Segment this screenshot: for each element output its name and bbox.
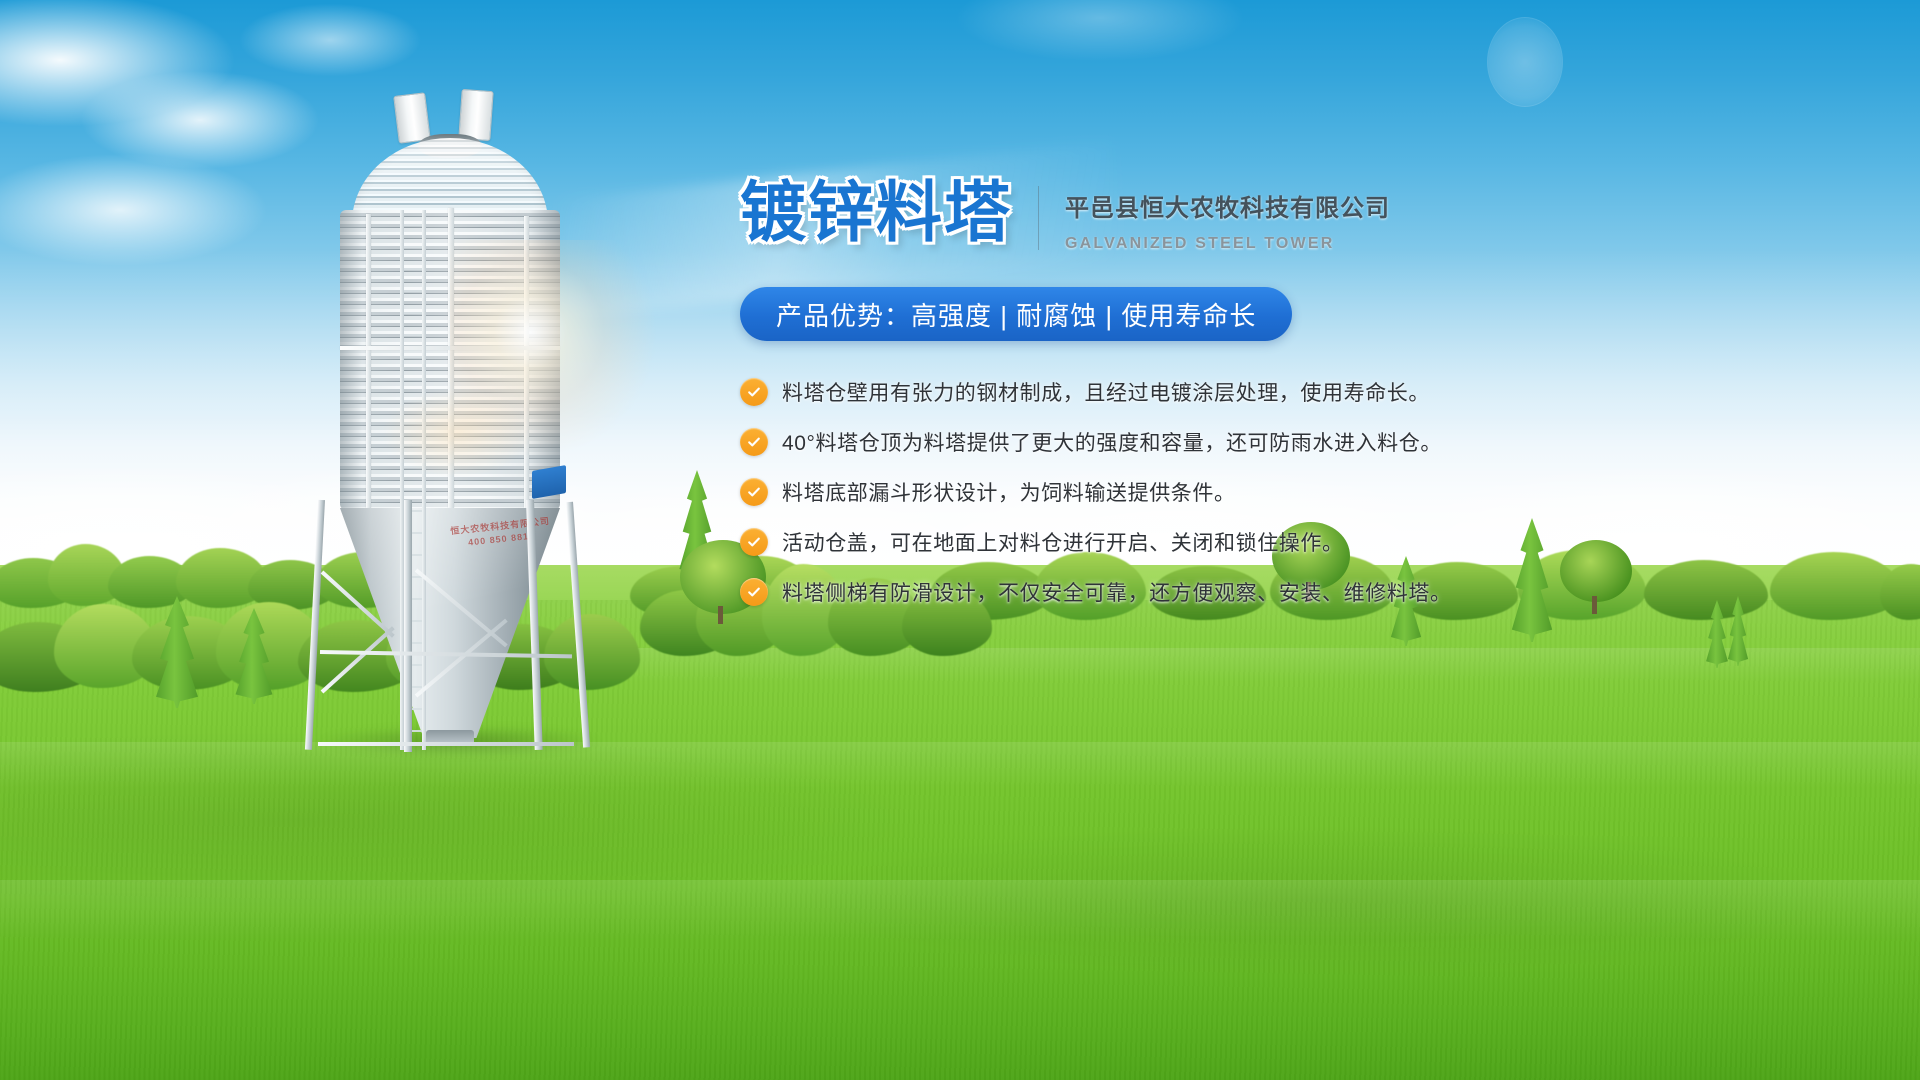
page-title: 镀锌料塔 [740,180,1012,246]
company-block: 平邑县恒大农牧科技有限公司 GALVANIZED STEEL TOWER [1065,180,1390,253]
silo-cross-brace [318,742,574,746]
check-icon [740,528,768,556]
header-divider [1038,186,1039,250]
silo-horizontal-strap [340,346,560,350]
promo-banner: 恒大农牧科技有限公司 400 850 8818 [0,0,1920,1080]
list-item: 40°料塔仓顶为料塔提供了更大的强度和容量，还可防雨水进入料仓。 [740,427,1870,457]
list-item-label: 40°料塔仓顶为料塔提供了更大的强度和容量，还可防雨水进入料仓。 [782,427,1442,457]
silo-leg [305,500,325,750]
check-icon [740,428,768,456]
list-item: 料塔底部漏斗形状设计，为饲料输送提供条件。 [740,477,1870,507]
check-icon [740,578,768,606]
silo-vertical-strap [448,208,454,510]
silo-cross-brace [321,626,395,693]
list-item: 料塔仓壁用有张力的钢材制成，且经过电镀涂层处理，使用寿命长。 [740,377,1870,407]
conifer-tree [152,596,202,708]
silo-vertical-strap [366,214,371,510]
list-item-label: 料塔仓壁用有张力的钢材制成，且经过电镀涂层处理，使用寿命长。 [782,377,1430,407]
banner-content: 镀锌料塔 平邑县恒大农牧科技有限公司 GALVANIZED STEEL TOWE… [740,180,1870,627]
company-name: 平邑县恒大农牧科技有限公司 [1065,188,1390,223]
list-item: 活动仓盖，可在地面上对料仓进行开启、关闭和锁住操作。 [740,527,1870,557]
check-icon [740,478,768,506]
galvanized-silo-image: 恒大农牧科技有限公司 400 850 8818 [300,90,600,750]
feature-list: 料塔仓壁用有张力的钢材制成，且经过电镀涂层处理，使用寿命长。 40°料塔仓顶为料… [740,377,1870,607]
silo-leg [404,500,412,752]
company-subtitle: GALVANIZED STEEL TOWER [1065,235,1390,253]
silo-hatch-right [458,89,493,141]
sun-bokeh-icon [1488,18,1562,106]
silo-hatch-left [393,92,431,144]
list-item-label: 料塔底部漏斗形状设计，为饲料输送提供条件。 [782,477,1236,507]
check-icon [740,378,768,406]
silo-leg [566,502,590,748]
banner-header-row: 镀锌料塔 平邑县恒大农牧科技有限公司 GALVANIZED STEEL TOWE… [740,180,1870,253]
grass-shading [0,700,1920,1080]
silo-blue-chute [532,465,566,499]
advantage-pill: 产品优势：高强度 | 耐腐蚀 | 使用寿命长 [740,287,1292,341]
lawn-tree-trunk [718,606,723,624]
conifer-tree [232,608,276,704]
list-item-label: 活动仓盖，可在地面上对料仓进行开启、关闭和锁住操作。 [782,527,1344,557]
list-item-label: 料塔侧梯有防滑设计，不仅安全可靠，还方便观察、安装、维修料塔。 [782,577,1452,607]
list-item: 料塔侧梯有防滑设计，不仅安全可靠，还方便观察、安装、维修料塔。 [740,577,1870,607]
silo-vertical-strap [524,216,529,510]
